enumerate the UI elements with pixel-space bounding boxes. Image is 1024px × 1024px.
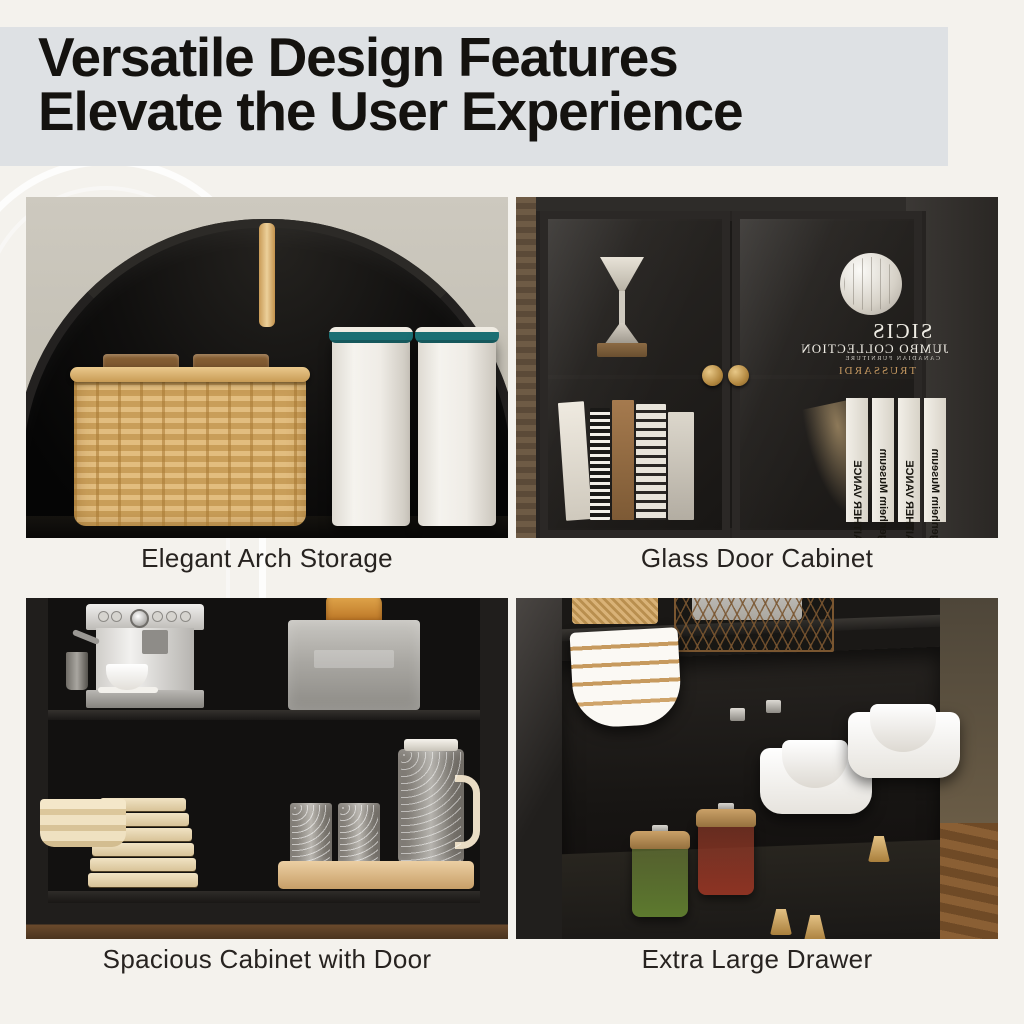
book-title-canadian-furniture: CANADIAN FURNITURE: [844, 356, 940, 362]
glass-tumbler: [338, 803, 380, 865]
cabinet-bottom-shelf: [48, 891, 480, 903]
pressure-gauge: [130, 609, 149, 628]
feature-caption: Glass Door Cabinet: [516, 543, 998, 574]
basket-handle: [259, 223, 275, 327]
glass-pitcher: [398, 749, 464, 865]
photo-glass-door-cabinet: SICIS JUMBO COLLECTION CANADIAN FURNITUR…: [516, 197, 998, 538]
feature-grid: Elegant Arch Storage SICIS JUMBO COLLECT…: [26, 197, 998, 997]
ribbed-sphere-decor: [840, 253, 902, 315]
spice-jar-herbs: [632, 843, 688, 917]
cabinet-side-left: [26, 598, 48, 939]
book-spine-label: WAITHER VANCE: [903, 460, 915, 538]
cabinet-knob-right: [728, 365, 749, 386]
hourglass-decor: [600, 249, 644, 357]
wooden-tray: [278, 861, 474, 889]
bowl-stack: [40, 799, 126, 847]
milk-pitcher: [66, 652, 88, 690]
photo-spacious-cabinet: [26, 598, 508, 939]
toaster: [288, 620, 420, 710]
book-title-jumbo-collection: JUMBO COLLECTION: [800, 341, 948, 357]
drawer-slide-clip: [730, 708, 745, 721]
photo-extra-large-drawer: [516, 598, 998, 939]
magazine-stack: [562, 400, 702, 520]
glass-door-edge: [516, 598, 562, 939]
book-spine-label: Guggenheim Museum: [877, 449, 889, 538]
book-title-trussardi: TRUSSARDI: [837, 365, 916, 377]
wire-basket: [674, 598, 834, 652]
gold-rim-china-stack: [570, 627, 683, 729]
wood-trim: [516, 197, 536, 538]
white-bowl-and-plate: [848, 704, 960, 778]
cabinet-middle-shelf: [48, 710, 480, 720]
wood-floor: [940, 823, 998, 939]
drawer-slide-clip: [766, 700, 781, 713]
feature-caption: Elegant Arch Storage: [26, 543, 508, 574]
book-spines: Guggenheim Museum WAITHER VANCE Guggenhe…: [830, 398, 946, 522]
feature-card-spacious-cabinet: Spacious Cabinet with Door: [26, 598, 508, 939]
feature-card-extra-large-drawer: Extra Large Drawer: [516, 598, 998, 939]
feature-card-arch-storage: Elegant Arch Storage: [26, 197, 508, 538]
glass-tumbler: [290, 803, 332, 865]
white-canister: [332, 336, 410, 526]
book-spine-label: Guggenheim Museum: [929, 449, 941, 538]
spice-jar-peppercorns: [698, 821, 754, 895]
rattan-basket: [572, 598, 658, 624]
rattan-basket: [74, 374, 306, 526]
espresso-machine: [86, 604, 204, 708]
feature-caption: Spacious Cabinet with Door: [26, 944, 508, 975]
cabinet-plinth: [26, 903, 508, 939]
cabinet-knob-left: [702, 365, 723, 386]
white-canister: [418, 336, 496, 526]
page-title: Versatile Design Features Elevate the Us…: [38, 30, 938, 139]
book-spine-label: WAITHER VANCE: [851, 460, 863, 538]
photo-arch-storage: [26, 197, 508, 538]
cabinet-side-right: [480, 598, 508, 939]
feature-caption: Extra Large Drawer: [516, 944, 998, 975]
feature-card-glass-door-cabinet: SICIS JUMBO COLLECTION CANADIAN FURNITUR…: [516, 197, 998, 538]
